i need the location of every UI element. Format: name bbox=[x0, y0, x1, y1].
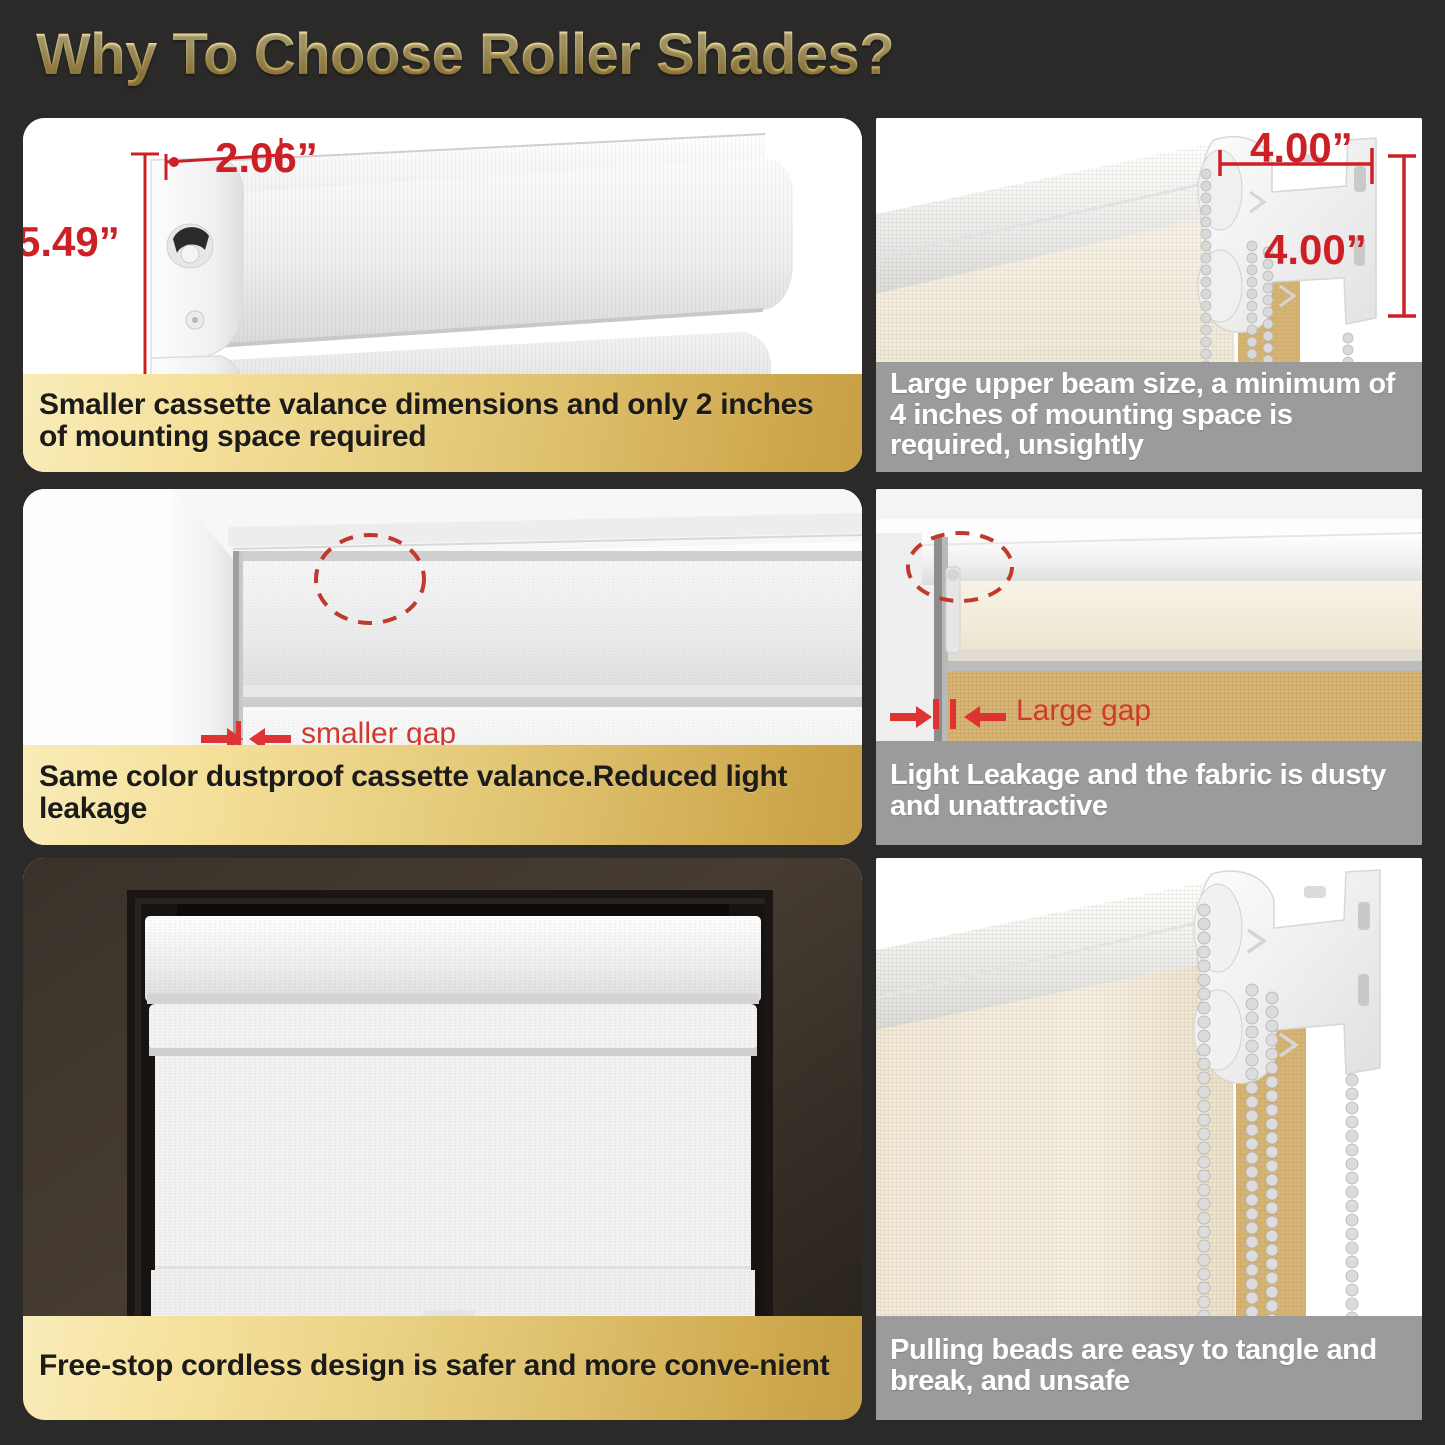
panel-dustproof-cassette-valance: smaller gap Same color dustproof cassett… bbox=[23, 489, 862, 845]
panel-large-upper-beam: 4.00” 4.00” Large upper beam size, a min… bbox=[876, 118, 1422, 472]
height-dimension-label: 5.49” bbox=[23, 218, 120, 266]
panel-free-stop-cordless: Free-stop cordless design is safer and m… bbox=[23, 858, 862, 1420]
panel-caption-text: Same color dustproof cassette valance.Re… bbox=[39, 761, 846, 825]
panel-caption-bar: Free-stop cordless design is safer and m… bbox=[23, 1316, 862, 1420]
panel-caption-text: Light Leakage and the fabric is dusty an… bbox=[890, 760, 1408, 821]
panel-cassette-valance-dimensions: 2.06” 5.49” Smaller cassette valance dim… bbox=[23, 118, 862, 472]
large-gap-label: Large gap bbox=[1016, 694, 1151, 728]
panel-light-leakage: Large gap Light Leakage and the fabric i… bbox=[876, 489, 1422, 845]
page-title-bar: Why To Choose Roller Shades? bbox=[0, 0, 1445, 108]
panel-caption-bar: Same color dustproof cassette valance.Re… bbox=[23, 745, 862, 845]
panel-caption-bar: Large upper beam size, a minimum of 4 in… bbox=[876, 362, 1422, 472]
panel-caption-bar: Smaller cassette valance dimensions and … bbox=[23, 374, 862, 472]
panel-caption-text: Free-stop cordless design is safer and m… bbox=[39, 1350, 829, 1382]
page-title: Why To Choose Roller Shades? bbox=[36, 21, 894, 88]
panel-caption-bar: Light Leakage and the fabric is dusty an… bbox=[876, 741, 1422, 845]
infographic-page: Why To Choose Roller Shades? bbox=[0, 0, 1445, 1445]
beam-height-dimension-label: 4.00” bbox=[1264, 226, 1367, 274]
panel-caption-bar: Pulling beads are easy to tangle and bre… bbox=[876, 1316, 1422, 1420]
width-dimension-label: 2.06” bbox=[215, 134, 318, 182]
beam-width-dimension-label: 4.00” bbox=[1250, 124, 1353, 172]
panel-caption-text: Smaller cassette valance dimensions and … bbox=[39, 389, 846, 453]
panel-caption-text: Pulling beads are easy to tangle and bre… bbox=[890, 1335, 1408, 1396]
panel-caption-text: Large upper beam size, a minimum of 4 in… bbox=[890, 369, 1408, 461]
panel-pulling-beads: Pulling beads are easy to tangle and bre… bbox=[876, 858, 1422, 1420]
